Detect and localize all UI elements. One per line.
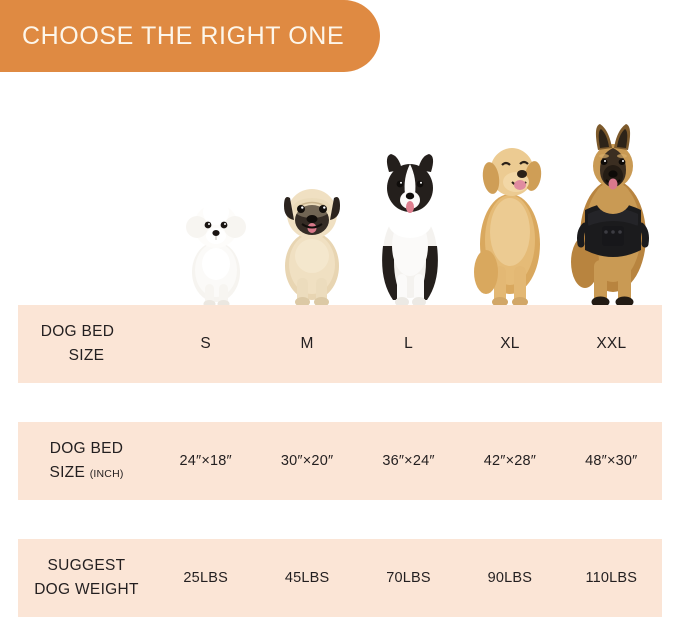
cell-weight-m: 45LBS: [256, 570, 357, 586]
table-row: DOG BED SIZE S M L XL XXL: [18, 305, 662, 383]
dog-photo-bichon-frise: [180, 196, 252, 308]
page-title: CHOOSE THE RIGHT ONE: [0, 22, 344, 51]
cell-inch-s: 24″×18″: [155, 453, 256, 469]
row-header-line1: DOG BED: [50, 437, 124, 461]
row-header-line2: SIZE: [69, 344, 105, 368]
dog-photo-golden-retriever: [470, 132, 550, 308]
row-header-line2: DOG WEIGHT: [34, 578, 139, 602]
row-header-line2: SIZE (INCH): [49, 461, 123, 485]
row-header-line1: SUGGEST: [48, 554, 126, 578]
row-header-bed-size: DOG BED SIZE: [18, 320, 155, 368]
cell-size-xl: XL: [459, 335, 560, 353]
cell-weight-s: 25LBS: [155, 570, 256, 586]
table-row: DOG BED SIZE (INCH) 24″×18″ 30″×20″ 36″×…: [18, 422, 662, 500]
dog-photo-border-collie: [372, 150, 448, 308]
cell-size-m: M: [256, 335, 357, 353]
cell-size-s: S: [155, 335, 256, 353]
row-header-suggest-weight: SUGGEST DOG WEIGHT: [18, 554, 155, 602]
row-header-bed-size-inch: DOG BED SIZE (INCH): [18, 437, 155, 485]
size-chart-table: DOG BED SIZE S M L XL XXL DOG BED SIZE (…: [18, 305, 662, 617]
cell-inch-xxl: 48″×30″: [561, 453, 662, 469]
cell-inch-xl: 42″×28″: [459, 453, 560, 469]
cell-size-xxl: XXL: [561, 335, 662, 353]
row-header-line2-text: SIZE: [49, 464, 85, 481]
cell-inch-m: 30″×20″: [256, 453, 357, 469]
header-banner: CHOOSE THE RIGHT ONE: [0, 0, 380, 72]
table-row: SUGGEST DOG WEIGHT 25LBS 45LBS 70LBS 90L…: [18, 539, 662, 617]
dog-photo-pug: [272, 178, 352, 308]
cell-weight-xxl: 110LBS: [561, 570, 662, 586]
row-header-line1: DOG BED: [41, 320, 115, 344]
cell-inch-l: 36″×24″: [358, 453, 459, 469]
dog-photo-german-shepherd: [568, 114, 658, 308]
cell-weight-xl: 90LBS: [459, 570, 560, 586]
cell-weight-l: 70LBS: [358, 570, 459, 586]
row-header-unit: (INCH): [90, 468, 124, 480]
cell-size-l: L: [358, 335, 459, 353]
dog-size-illustrations: [0, 96, 679, 308]
